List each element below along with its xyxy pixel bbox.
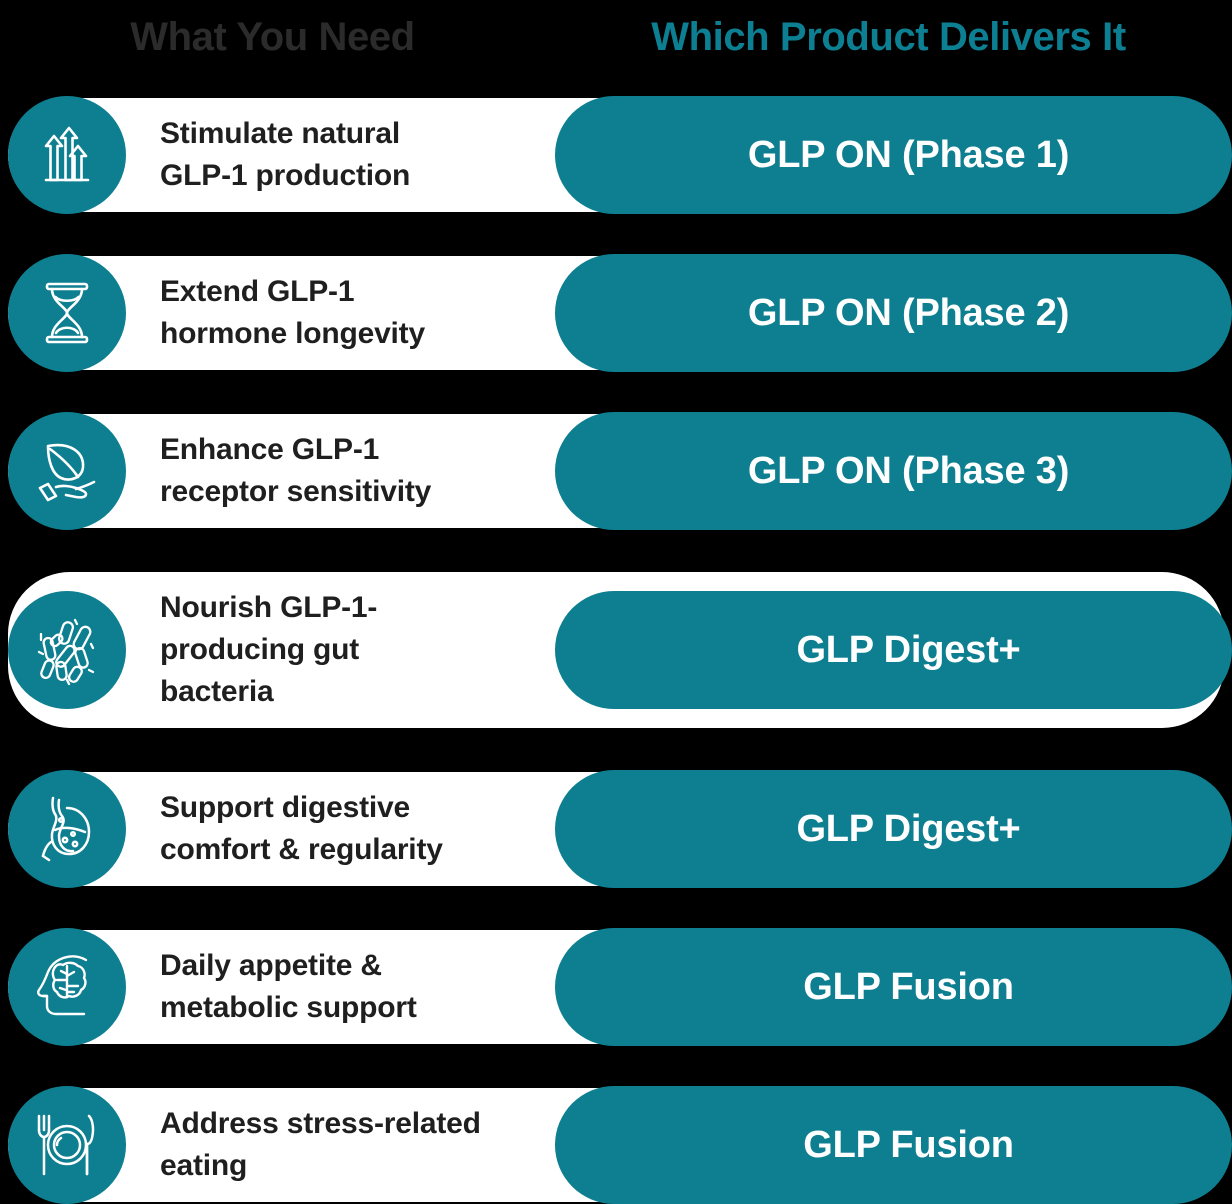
product-pill[interactable]: GLP Fusion (555, 928, 1232, 1046)
utensils-plate-icon (8, 1086, 126, 1204)
stomach-icon (8, 770, 126, 888)
product-pill[interactable]: GLP Digest+ (555, 770, 1232, 888)
header-which-product-delivers-it: Which Product Delivers It (545, 17, 1232, 57)
comparison-board: What You Need Which Product Delivers It … (0, 0, 1232, 1188)
row-list: Stimulate natural GLP-1 production GLP O… (0, 96, 1232, 1204)
table-row[interactable]: Support digestive comfort & regularity G… (0, 770, 1232, 888)
product-pill[interactable]: GLP ON (Phase 3) (555, 412, 1232, 530)
growth-arrows-icon (8, 96, 126, 214)
product-label: GLP Digest+ (766, 810, 1020, 848)
head-brain-icon (8, 928, 126, 1046)
product-label: GLP Fusion (773, 968, 1014, 1006)
product-pill[interactable]: GLP ON (Phase 2) (555, 254, 1232, 372)
bacteria-icon (8, 591, 126, 709)
need-label: Enhance GLP-1 receptor sensitivity (160, 429, 560, 513)
product-label: GLP Fusion (773, 1126, 1014, 1164)
product-pill[interactable]: GLP ON (Phase 1) (555, 96, 1232, 214)
product-label: GLP ON (Phase 3) (718, 452, 1069, 490)
hand-leaf-icon (8, 412, 126, 530)
table-row[interactable]: Address stress-related eating GLP Fusion (0, 1086, 1232, 1204)
column-headers: What You Need Which Product Delivers It (0, 0, 1232, 74)
product-label: GLP Digest+ (766, 631, 1020, 669)
product-label: GLP ON (Phase 1) (718, 136, 1069, 174)
need-label: Stimulate natural GLP-1 production (160, 113, 560, 197)
hourglass-icon (8, 254, 126, 372)
need-label: Address stress-related eating (160, 1103, 560, 1187)
table-row[interactable]: Stimulate natural GLP-1 production GLP O… (0, 96, 1232, 214)
product-pill[interactable]: GLP Digest+ (555, 591, 1232, 709)
product-label: GLP ON (Phase 2) (718, 294, 1069, 332)
table-row[interactable]: Extend GLP-1 hormone longevity GLP ON (P… (0, 254, 1232, 372)
table-row[interactable]: Daily appetite & metabolic support GLP F… (0, 928, 1232, 1046)
header-what-you-need: What You Need (0, 17, 545, 57)
table-row[interactable]: Enhance GLP-1 receptor sensitivity GLP O… (0, 412, 1232, 530)
need-label: Daily appetite & metabolic support (160, 945, 560, 1029)
need-label: Nourish GLP-1- producing gut bacteria (160, 587, 560, 713)
product-pill[interactable]: GLP Fusion (555, 1086, 1232, 1204)
table-row[interactable]: Nourish GLP-1- producing gut bacteria GL… (0, 570, 1232, 730)
need-label: Support digestive comfort & regularity (160, 787, 560, 871)
need-label: Extend GLP-1 hormone longevity (160, 271, 560, 355)
